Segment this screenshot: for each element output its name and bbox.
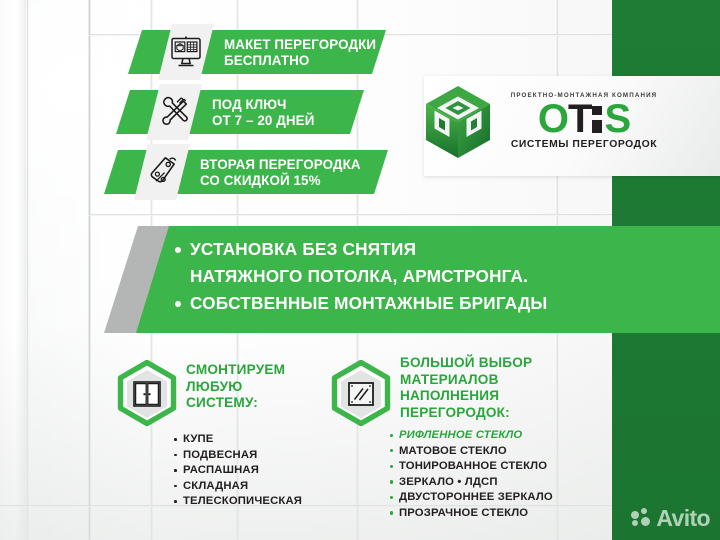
feature-2-list: РИФЛЕННОЕ СТЕКЛО МАТОВОЕ СТЕКЛО ТОНИРОВА… [390, 428, 553, 522]
list-item: КУПЕ [174, 432, 302, 448]
list-item: ПРОЗРАЧНОЕ СТЕКЛО [390, 506, 553, 522]
band-bullet-1: УСТАНОВКА БЕЗ СНЯТИЯ [173, 236, 693, 263]
logo-letter-s: S [604, 100, 630, 138]
avito-dots-icon [631, 508, 653, 528]
list-item: ДВУСТОРОННЕЕ ЗЕРКАЛО [390, 490, 553, 506]
list-item: ПОДВЕСНАЯ [174, 448, 302, 464]
feature-1-heading: СМОНТИРУЕМ ЛЮБУЮ СИСТЕМУ: [186, 362, 316, 412]
logo-wordmark: OTS [538, 100, 630, 138]
logo-letter-o: O [538, 100, 568, 138]
ribbon-3-text: ВТОРАЯ ПЕРЕГОРОДКА СО СКИДКОЙ 15% [200, 157, 361, 188]
ribbon-row-1: МАКЕТ ПЕРЕГОРОДКИ БЕСПЛАТНО [128, 30, 386, 74]
avito-watermark: Avito [631, 508, 710, 528]
list-item: СКЛАДНАЯ [174, 479, 302, 495]
band-bullet-2: СОБСТВЕННЫЕ МОНТАЖНЫЕ БРИГАДЫ [173, 290, 693, 317]
list-item: РИФЛЕННОЕ СТЕКЛО [390, 428, 553, 444]
band-bullet-1-continued: НАТЯЖНОГО ПОТОЛКА, АРМСТРОНГА. [173, 263, 693, 290]
green-band-text: УСТАНОВКА БЕЗ СНЯТИЯ НАТЯЖНОГО ПОТОЛКА, … [173, 236, 693, 317]
logo-letter-t: T [568, 100, 591, 138]
list-item: ЗЕРКАЛО • ЛДСП [390, 475, 553, 491]
logo-tagline-bottom: СИСТЕМЫ ПЕРЕГОРОДОК [511, 139, 657, 150]
list-item: ТОНИРОВАННОЕ СТЕКЛО [390, 459, 553, 475]
ribbon-2-text: ПОД КЛЮЧ ОТ 7 – 20 ДНЕЙ [212, 97, 314, 128]
list-item: МАТОВОЕ СТЕКЛО [390, 444, 553, 460]
avito-wordmark: Avito [656, 508, 710, 528]
company-logo-text: ПРОЕКТНО-МОНТАЖНАЯ КОМПАНИЯ OTS СИСТЕМЫ … [494, 84, 674, 158]
feature-2-heading: БОЛЬШОЙ ВЫБОР МАТЕРИАЛОВ НАПОЛНЕНИЯ ПЕРЕ… [400, 355, 590, 421]
double-door-icon [116, 360, 178, 428]
list-item: ТЕЛЕСКОПИЧЕСКАЯ [174, 494, 302, 510]
ribbon-row-3: ВТОРАЯ ПЕРЕГОРОДКА СО СКИДКОЙ 15% [104, 150, 388, 194]
ribbon-1-text: МАКЕТ ПЕРЕГОРОДКИ БЕСПЛАТНО [224, 37, 376, 68]
feature-1-list: КУПЕ ПОДВЕСНАЯ РАСПАШНАЯ СКЛАДНАЯ ТЕЛЕСК… [174, 432, 302, 510]
advertisement-banner: МАКЕТ ПЕРЕГОРОДКИ БЕСПЛАТНО ПОД КЛЮЧ ОТ … [0, 0, 720, 540]
ribbon-row-2: ПОД КЛЮЧ ОТ 7 – 20 ДНЕЙ [116, 90, 364, 134]
isometric-cube-logo-icon [422, 84, 494, 160]
glass-panel-icon [330, 360, 392, 428]
list-item: РАСПАШНАЯ [174, 463, 302, 479]
